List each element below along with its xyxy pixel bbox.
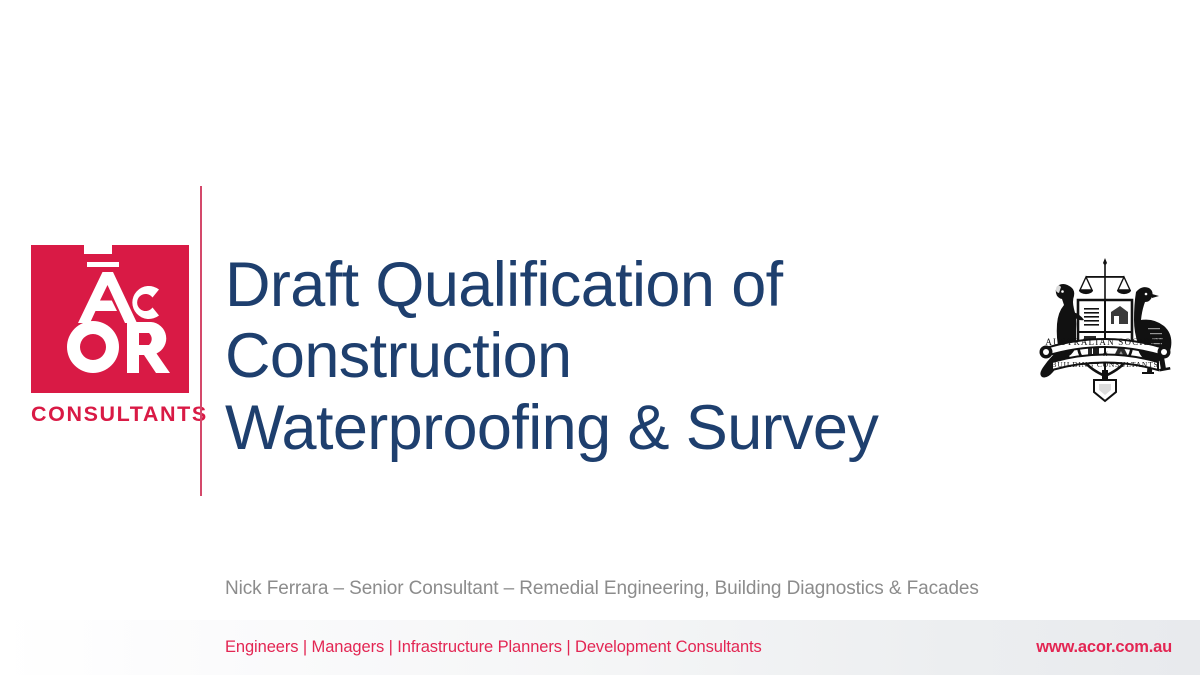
vertical-divider bbox=[200, 186, 202, 496]
presenter-byline: Nick Ferrara – Senior Consultant – Remed… bbox=[225, 578, 979, 600]
svg-text:AUSTRALIAN SOCIETY: AUSTRALIAN SOCIETY bbox=[1045, 337, 1164, 347]
svg-text:BUILDING CONSULTANTS: BUILDING CONSULTANTS bbox=[1052, 360, 1159, 369]
svg-text:of: of bbox=[1103, 351, 1108, 358]
footer-bar: Engineers | Managers | Infrastructure Pl… bbox=[0, 620, 1200, 675]
asbc-crest-icon: AUSTRALIAN SOCIETY of BUILDING CONSULTAN… bbox=[1028, 252, 1183, 407]
acor-logo: CONSULTANTS bbox=[31, 245, 189, 430]
footer-tagline: Engineers | Managers | Infrastructure Pl… bbox=[225, 638, 762, 657]
title-slide: CONSULTANTS Draft Qualification of Const… bbox=[0, 0, 1200, 675]
footer-website-url[interactable]: www.acor.com.au bbox=[1036, 638, 1172, 657]
acor-logo-wordmark: CONSULTANTS bbox=[31, 404, 189, 426]
logo-lettermark-icon bbox=[31, 245, 189, 393]
acor-logo-mark bbox=[31, 245, 189, 393]
slide-title: Draft Qualification of Construction Wate… bbox=[225, 250, 1045, 464]
